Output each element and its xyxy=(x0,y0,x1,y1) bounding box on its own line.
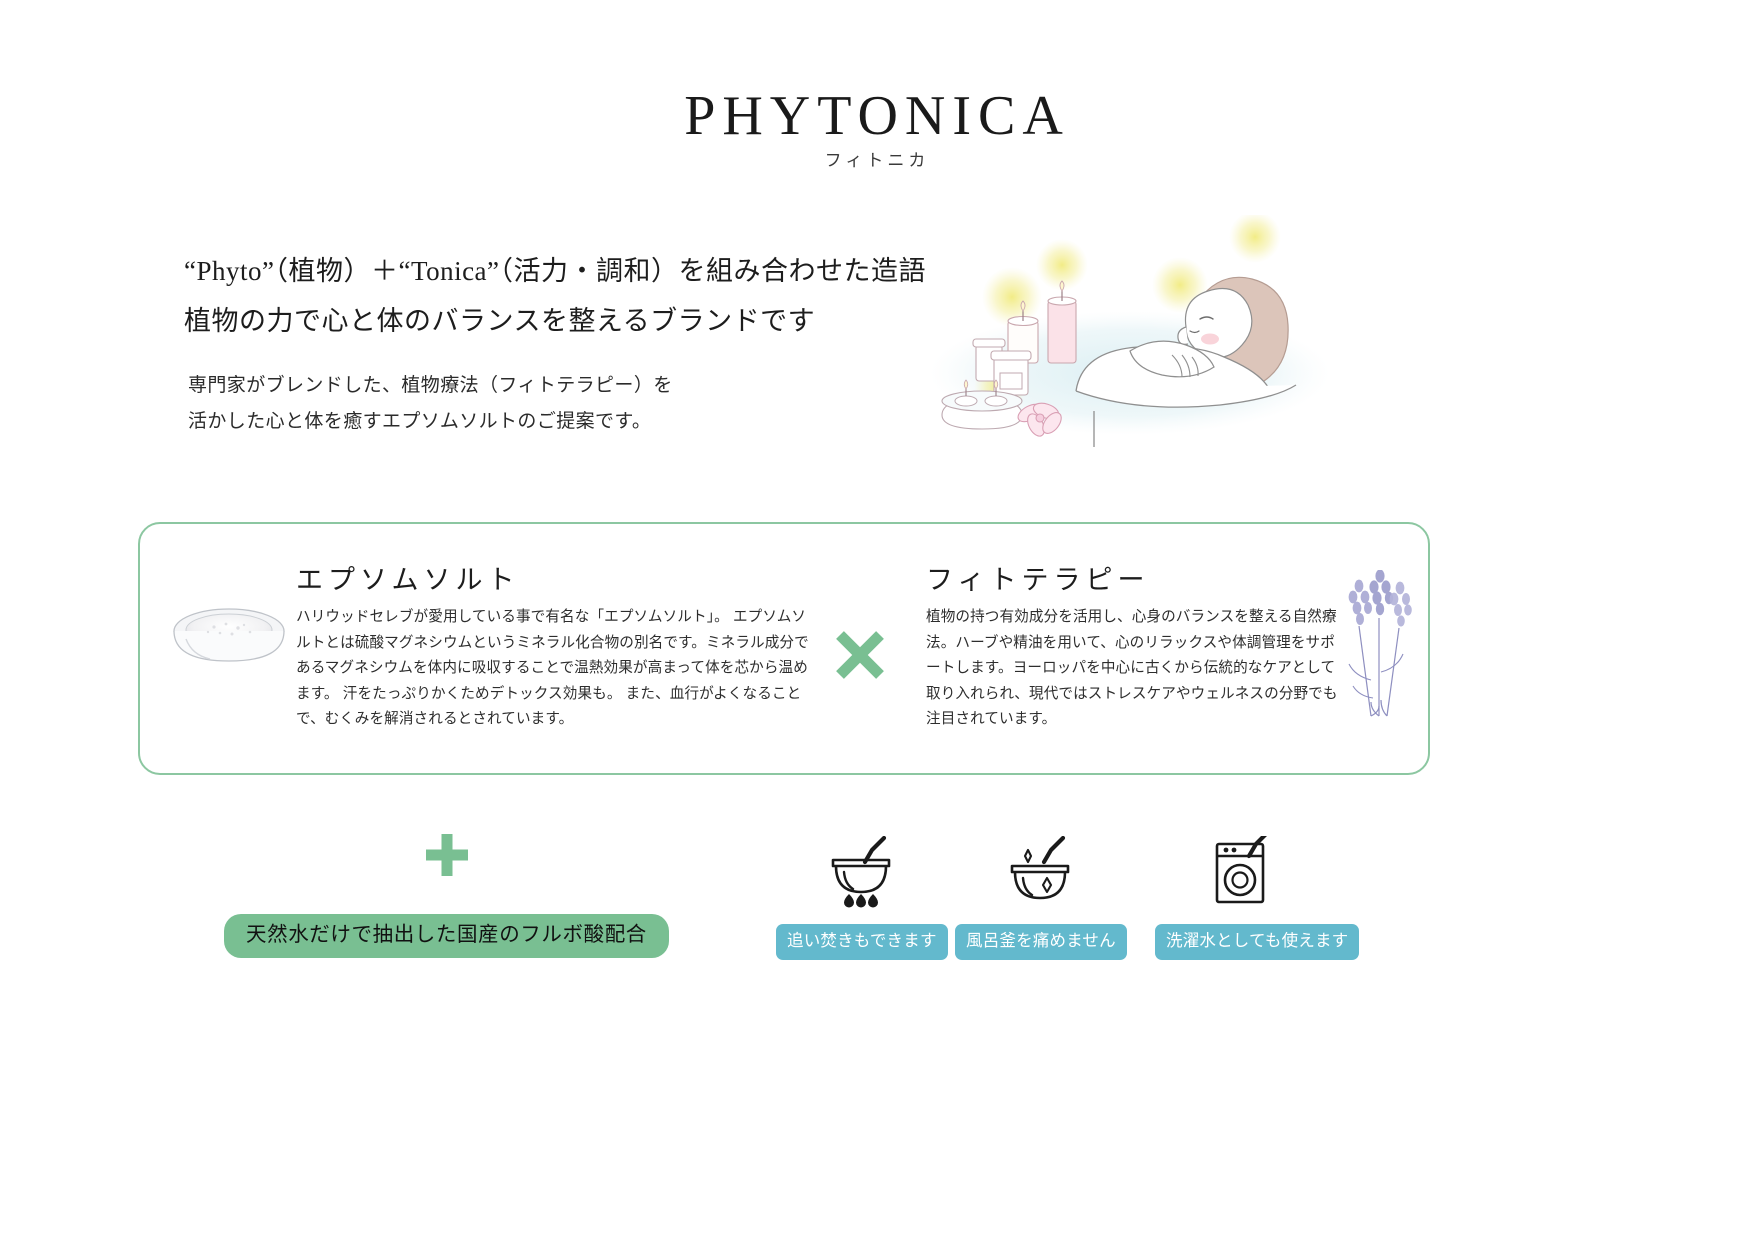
epsom-salt-column: エプソムソルト ハリウッドセレブが愛用している事で有名な「エプソムソルト」。 エ… xyxy=(296,564,816,733)
epsom-salt-body: ハリウッドセレブが愛用している事で有名な「エプソムソルト」。 エプソムソ ルトと… xyxy=(296,605,816,733)
bathtub-sparkle-icon xyxy=(955,836,1125,908)
plus-icon xyxy=(424,832,470,878)
brand-logo: PHYTONICA xyxy=(0,88,1754,144)
feature-no-damage: 風呂釜を痛めません xyxy=(955,836,1125,960)
intro-sub-line-2: 活かした心と体を癒すエプソムソルトのご提案です。 xyxy=(188,404,808,440)
fulvic-acid-badge: 天然水だけで抽出した国産のフルボ酸配合 xyxy=(224,914,669,958)
salt-dish-icon xyxy=(170,597,288,685)
phytotherapy-body-line-1: 植物の持つ有効成分を活用し、心身のバランスを整える自然療 xyxy=(926,605,1346,631)
phytotherapy-body-line-3: ートします。ヨーロッパを中心に古くから伝統的なケアとして xyxy=(926,656,1346,682)
bathtub-reheat-icon xyxy=(776,836,946,908)
brand-logo-reading: フィトニカ xyxy=(0,152,1754,169)
epsom-salt-body-line-4: ます。 汗をたっぷりかくためデトックス効果も。 また、血行がよくなること xyxy=(296,682,816,708)
phytonica-brand-page: PHYTONICA フィトニカ “Phyto”（植物）＋“Tonica”（活力・… xyxy=(0,0,1754,1241)
epsom-salt-title: エプソムソルト xyxy=(296,564,816,596)
washing-machine-icon xyxy=(1155,836,1325,908)
phytotherapy-body-line-5: 注目されています。 xyxy=(926,707,1346,733)
intro-lead-line-1: “Phyto”（植物）＋“Tonica”（活力・調和）を組み合わせた造語 xyxy=(184,246,944,296)
phytotherapy-body-line-4: 取り入れられ、現代ではストレスケアやウェルネスの分野でも xyxy=(926,682,1346,708)
phytotherapy-column: フィトテラピー 植物の持つ有効成分を活用し、心身のバランスを整える自然療 法。ハ… xyxy=(926,564,1346,733)
phytotherapy-title: フィトテラピー xyxy=(926,564,1346,596)
spa-bath-illustration xyxy=(880,215,1350,455)
intro-lead: “Phyto”（植物）＋“Tonica”（活力・調和）を組み合わせた造語 植物の… xyxy=(184,246,944,346)
phytotherapy-body-line-2: 法。ハーブや精油を用いて、心のリラックスや体調管理をサポ xyxy=(926,631,1346,657)
feature-reheat-label: 追い焚きもできます xyxy=(776,924,948,960)
lavender-sprig-icon xyxy=(1335,570,1421,720)
ingredients-card: エプソムソルト ハリウッドセレブが愛用している事で有名な「エプソムソルト」。 エ… xyxy=(138,522,1430,775)
feature-laundry-label: 洗濯水としても使えます xyxy=(1155,924,1359,960)
phytotherapy-body: 植物の持つ有効成分を活用し、心身のバランスを整える自然療 法。ハーブや精油を用い… xyxy=(926,605,1346,733)
intro-sub: 専門家がブレンドした、植物療法（フィトテラピー）を 活かした心と体を癒すエプソム… xyxy=(188,368,808,440)
feature-laundry: 洗濯水としても使えます xyxy=(1155,836,1325,960)
intro-lead-line-2: 植物の力で心と体のバランスを整えるブランドです xyxy=(184,296,944,346)
epsom-salt-body-line-2: ルトとは硫酸マグネシウムというミネラル化合物の別名です。ミネラル成分で xyxy=(296,631,816,657)
feature-reheat: 追い焚きもできます xyxy=(776,836,946,960)
epsom-salt-body-line-1: ハリウッドセレブが愛用している事で有名な「エプソムソルト」。 エプソムソ xyxy=(296,605,816,631)
feature-no-damage-label: 風呂釜を痛めません xyxy=(955,924,1127,960)
x-mark-icon xyxy=(833,628,887,682)
epsom-salt-body-line-3: あるマグネシウムを体内に吸収することで温熱効果が高まって体を芯から温め xyxy=(296,656,816,682)
epsom-salt-body-line-5: で、むくみを解消されるとされています。 xyxy=(296,707,816,733)
intro-sub-line-1: 専門家がブレンドした、植物療法（フィトテラピー）を xyxy=(188,368,808,404)
